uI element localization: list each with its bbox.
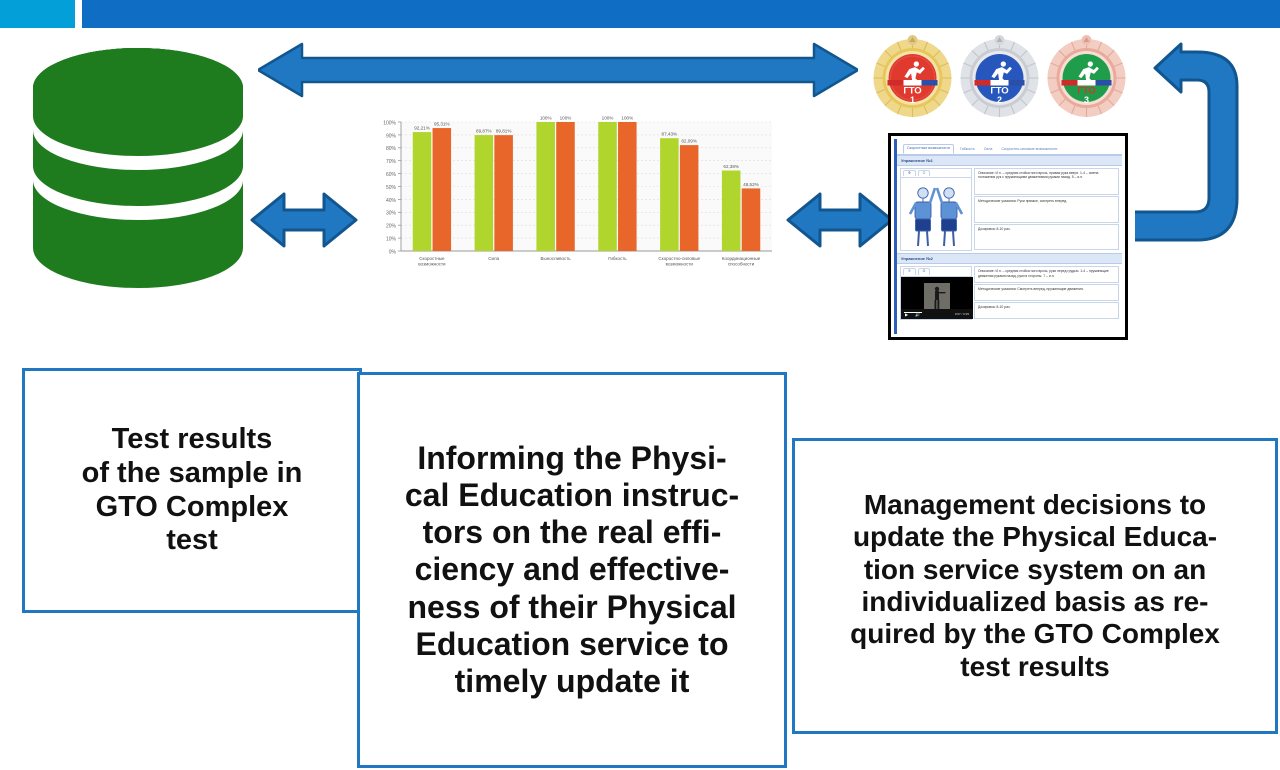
bar-series-orange bbox=[680, 145, 699, 251]
bar-value-label: 100% bbox=[602, 116, 614, 121]
play-icon[interactable]: ▶ bbox=[905, 313, 908, 317]
bar-series-orange bbox=[556, 122, 575, 251]
bar-series-orange bbox=[742, 188, 761, 251]
double-arrow-left bbox=[250, 190, 358, 250]
bronze-gto-badge: ГТО 3 bbox=[1044, 32, 1129, 118]
video-controls[interactable]: ▶ 🔊 0:07 / 0:35 bbox=[901, 309, 973, 319]
bar-series-green bbox=[598, 122, 617, 251]
x-tick-label: способности bbox=[728, 262, 755, 267]
bar-series-orange bbox=[618, 122, 637, 251]
banner-cyan-block bbox=[0, 0, 75, 28]
informing-instructors-text: Informing the Physi- cal Education instr… bbox=[405, 440, 739, 700]
exercise-1-dosage: Дозировка: 8-10 раз. bbox=[974, 224, 1119, 251]
y-tick-label: 0% bbox=[389, 249, 397, 255]
exercise-1-description: Описание: И.п. – средняя стойка ноги вро… bbox=[974, 168, 1119, 195]
tab-speed-abilities[interactable]: Скоростные возможности bbox=[903, 144, 954, 154]
y-tick-label: 60% bbox=[386, 172, 397, 178]
management-decisions-text: Management decisions to update the Physi… bbox=[850, 489, 1220, 684]
exercise-2-guidance: Методические указания: Смотреть вперед, … bbox=[974, 284, 1119, 301]
tab-strength[interactable]: Сила bbox=[981, 146, 996, 154]
database-icon bbox=[33, 48, 243, 318]
app-tab-bar[interactable]: Скоростные возможности Гибкость Сила Ско… bbox=[897, 139, 1122, 155]
bar-value-label: 48,52% bbox=[743, 182, 759, 187]
informing-instructors-box: Informing the Physi- cal Education instr… bbox=[357, 372, 787, 768]
silver-gto-badge: ГТО 2 bbox=[957, 32, 1042, 118]
x-tick-label: возможности bbox=[666, 262, 694, 267]
exercise-2-dosage: Дозировка: 8-10 раз. bbox=[974, 302, 1119, 319]
minitab-video[interactable]: О bbox=[918, 170, 931, 176]
x-tick-label: Гибкость bbox=[608, 256, 627, 261]
exercise-1-heading: Упражнение №1 bbox=[897, 155, 1122, 166]
exercise-1-minitabs[interactable]: Ф О bbox=[901, 169, 971, 178]
exercise-2-description: Описание: И.п. – средняя стойка ноги вро… bbox=[974, 266, 1119, 283]
badge-rank: 3 bbox=[1084, 95, 1089, 105]
exercise-1-media-panel: Ф О bbox=[900, 168, 972, 251]
bar-chart: 0%10%20%30%40%50%60%70%80%90%100%92,21%9… bbox=[365, 106, 780, 291]
test-results-box: Test results of the sample in GTO Comple… bbox=[22, 368, 362, 613]
bar-value-label: 92,21% bbox=[414, 126, 430, 131]
gold-gto-badge: ГТО 1 bbox=[870, 32, 955, 118]
bar-value-label: 89,87% bbox=[476, 129, 492, 134]
bar-series-green bbox=[722, 171, 741, 251]
y-tick-label: 40% bbox=[386, 198, 397, 204]
bar-series-green bbox=[413, 132, 432, 251]
bar-value-label: 62,38% bbox=[723, 164, 739, 169]
diagram-canvas: 0%10%20%30%40%50%60%70%80%90%100%92,21%9… bbox=[0, 0, 1280, 770]
management-decisions-box: Management decisions to update the Physi… bbox=[792, 438, 1278, 734]
x-tick-label: Координационные bbox=[722, 256, 761, 261]
test-results-text: Test results of the sample in GTO Comple… bbox=[82, 423, 303, 558]
exercise-1-text-panel: Описание: И.п. – средняя стойка ноги вро… bbox=[974, 168, 1119, 251]
exercise-2-video-player[interactable]: ▶ 🔊 0:07 / 0:35 bbox=[901, 277, 973, 319]
x-tick-label: Выносливость bbox=[541, 256, 572, 261]
bar-series-green bbox=[475, 135, 494, 251]
exercise-2-text-panel: Описание: И.п. – средняя стойка ноги вро… bbox=[974, 266, 1119, 319]
x-tick-label: Сила bbox=[488, 256, 499, 261]
y-tick-label: 10% bbox=[386, 237, 397, 243]
bar-value-label: 95,31% bbox=[434, 122, 450, 127]
banner-blue-bar bbox=[82, 0, 1280, 28]
bar-series-green bbox=[536, 122, 555, 251]
tab-speed-strength[interactable]: Скоростно-силовые возможности bbox=[998, 146, 1060, 154]
minitab-photo[interactable]: Ф bbox=[903, 170, 916, 176]
y-tick-label: 100% bbox=[383, 120, 396, 126]
exercise-2-media-panel: Ф О bbox=[900, 266, 972, 319]
y-tick-label: 50% bbox=[386, 185, 397, 191]
exercise-2-body: Ф О bbox=[897, 264, 1122, 321]
bar-value-label: 100% bbox=[621, 116, 633, 121]
y-tick-label: 20% bbox=[386, 224, 397, 230]
bar-value-label: 89,81% bbox=[496, 129, 512, 134]
y-tick-label: 80% bbox=[386, 146, 397, 152]
x-tick-label: Скоростно-силовые bbox=[658, 256, 700, 261]
exercise-1-body: Ф О bbox=[897, 166, 1122, 253]
bar-series-green bbox=[660, 138, 679, 251]
exercise-1-guidance: Методические указания: Руки прямые, смот… bbox=[974, 196, 1119, 223]
badge-rank: 1 bbox=[910, 95, 915, 105]
minitab-video[interactable]: О bbox=[918, 268, 931, 274]
video-time: 0:07 / 0:35 bbox=[955, 312, 969, 316]
double-arrow-top bbox=[258, 42, 858, 98]
speaker-icon[interactable]: 🔊 bbox=[915, 313, 920, 317]
exercise-1-illustration bbox=[901, 178, 971, 250]
bar-value-label: 87,43% bbox=[662, 132, 678, 137]
video-thumbnail bbox=[924, 283, 950, 311]
y-tick-label: 70% bbox=[386, 159, 397, 165]
return-loop-arrow bbox=[1135, 36, 1275, 266]
bar-value-label: 100% bbox=[540, 116, 552, 121]
exercise-2-minitabs[interactable]: Ф О bbox=[901, 267, 971, 276]
bar-value-label: 82,09% bbox=[681, 139, 697, 144]
bar-series-orange bbox=[433, 128, 452, 251]
x-tick-label: возможности bbox=[418, 262, 446, 267]
badge-rank: 2 bbox=[997, 95, 1002, 105]
y-tick-label: 30% bbox=[386, 211, 397, 217]
tab-flexibility[interactable]: Гибкость bbox=[957, 146, 978, 154]
app-inner: Скоростные возможности Гибкость Сила Ско… bbox=[894, 139, 1122, 334]
bar-value-label: 100% bbox=[560, 116, 572, 121]
y-tick-label: 90% bbox=[386, 133, 397, 139]
bar-series-orange bbox=[494, 135, 513, 251]
gto-badges-group: ГТО 1 bbox=[870, 32, 1130, 118]
x-tick-label: Скоростные bbox=[419, 256, 445, 261]
double-arrow-right bbox=[786, 190, 894, 250]
exercise-app-screenshot: Скоростные возможности Гибкость Сила Ско… bbox=[888, 133, 1128, 340]
exercise-2-heading: Упражнение №2 bbox=[897, 253, 1122, 264]
minitab-photo[interactable]: Ф bbox=[903, 268, 916, 274]
